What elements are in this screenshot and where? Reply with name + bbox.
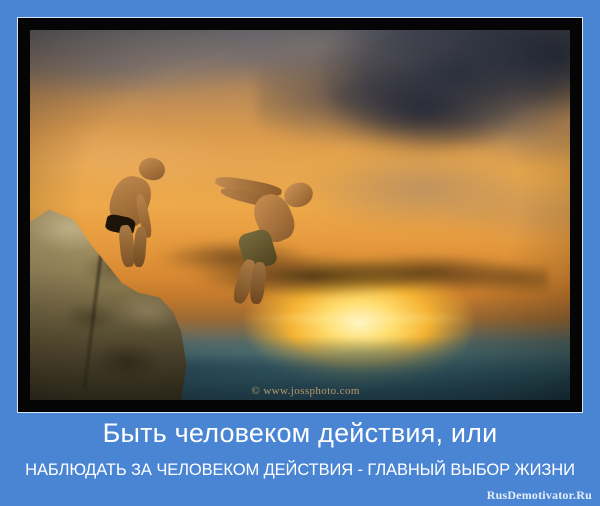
demotivator-poster: © www.jossphoto.com Быть человеком дейст… — [0, 0, 600, 506]
copyright-icon: © — [251, 385, 260, 397]
caption-main: Быть человеком действия, или — [0, 420, 600, 447]
photo-container: © www.jossphoto.com — [30, 30, 570, 400]
caption-sub: НАБЛЮДАТЬ ЗА ЧЕЛОВЕКОМ ДЕЙСТВИЯ - ГЛАВНЫ… — [0, 462, 600, 479]
photo-frame: © www.jossphoto.com — [17, 17, 583, 413]
photo-watermark: © www.jossphoto.com — [251, 385, 359, 397]
photo-watermark-text: www.jossphoto.com — [263, 385, 360, 397]
site-credit: RusDemotivator.Ru — [487, 488, 592, 503]
photo-vignette — [30, 30, 570, 400]
sunset-cliff-photo: © www.jossphoto.com — [30, 30, 570, 400]
